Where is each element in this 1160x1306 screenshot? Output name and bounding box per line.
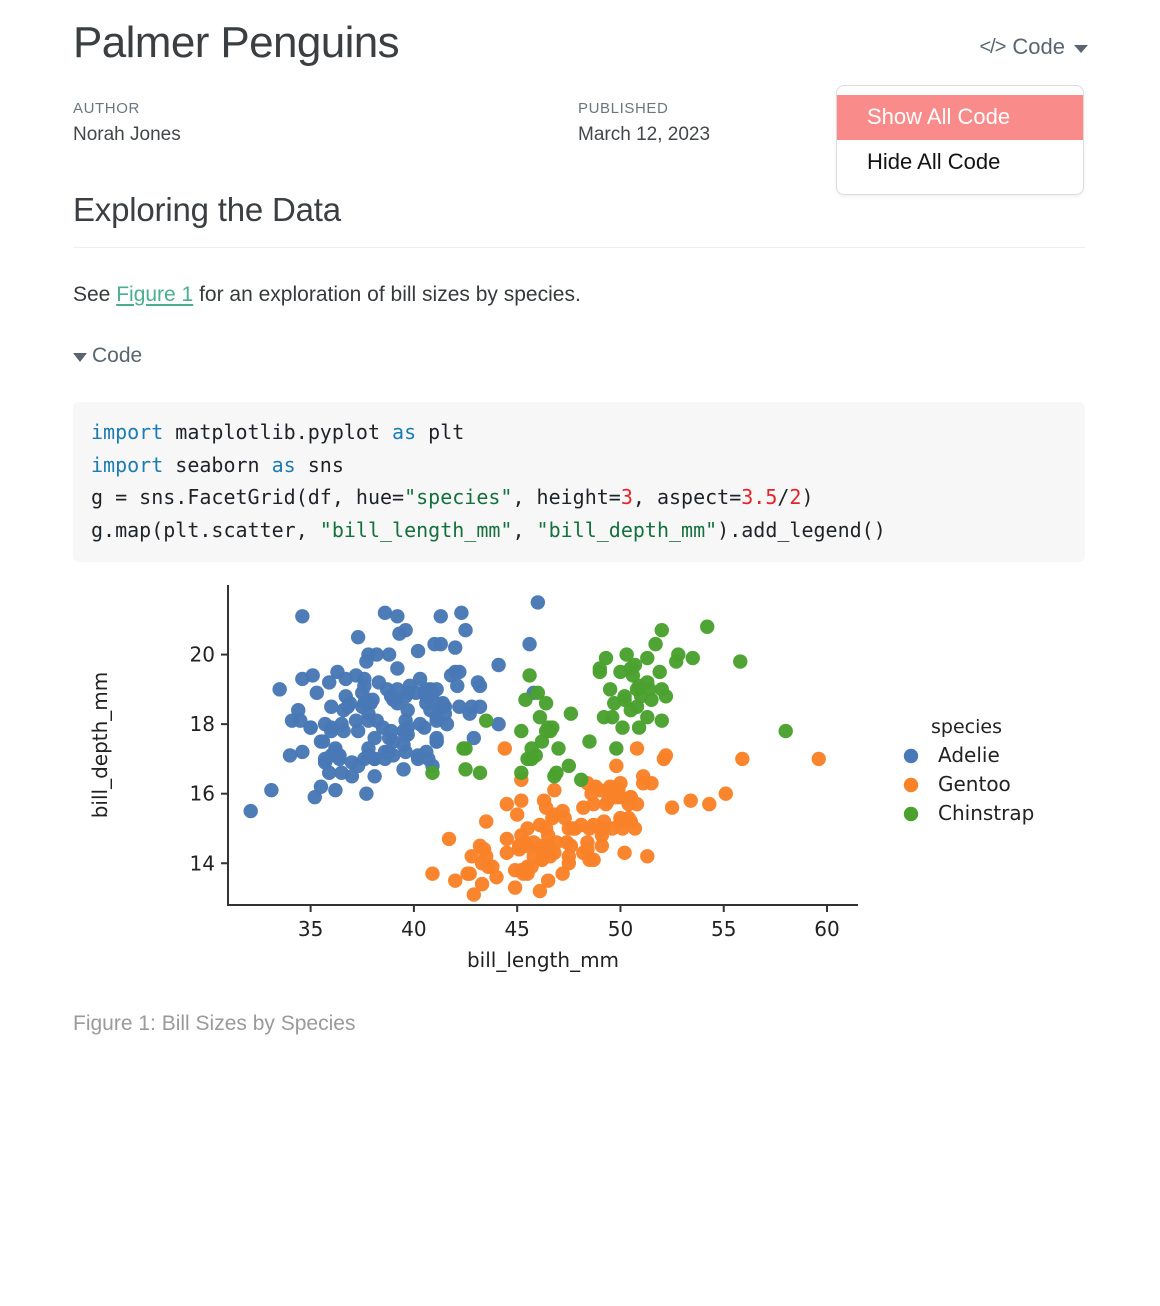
code-token: "species": [404, 485, 512, 509]
data-point: [357, 696, 371, 710]
data-point: [295, 745, 309, 759]
data-point: [551, 741, 565, 755]
data-point: [564, 707, 578, 721]
data-point: [576, 800, 590, 814]
code-token: , aspect=: [633, 485, 741, 509]
section-divider: [73, 247, 1085, 248]
data-point: [330, 665, 344, 679]
code-token: ).add_legend(): [717, 518, 886, 542]
data-point: [417, 720, 431, 734]
code-toggle-button[interactable]: </> Code: [979, 34, 1088, 60]
code-block[interactable]: import matplotlib.pyplot as plt import s…: [73, 402, 1085, 562]
code-token: 2: [789, 485, 801, 509]
data-point: [659, 748, 673, 762]
y-tick-label: 14: [190, 851, 215, 875]
data-point: [539, 821, 553, 835]
data-point: [272, 682, 286, 696]
data-point: [462, 867, 476, 881]
data-point: [733, 654, 747, 668]
data-point: [595, 839, 609, 853]
data-point: [462, 707, 476, 721]
data-point: [622, 797, 636, 811]
figure-container: 14161820354045505560bill_length_mmbill_d…: [73, 573, 1085, 993]
data-point: [328, 783, 342, 797]
data-point: [324, 700, 338, 714]
data-point: [425, 766, 439, 780]
data-point: [630, 700, 644, 714]
x-axis-title: bill_length_mm: [467, 948, 619, 972]
data-point: [539, 696, 553, 710]
data-point: [390, 682, 404, 696]
data-point: [378, 606, 392, 620]
data-point: [491, 717, 505, 731]
series-adelie: [244, 595, 546, 818]
data-point: [396, 762, 410, 776]
data-point: [655, 623, 669, 637]
data-point: [615, 720, 629, 734]
data-point: [640, 651, 654, 665]
y-axis-title: bill_depth_mm: [88, 672, 112, 819]
data-point: [514, 766, 528, 780]
section-heading: Exploring the Data: [73, 191, 341, 229]
data-point: [514, 793, 528, 807]
data-point: [324, 748, 338, 762]
data-point: [531, 595, 545, 609]
data-point: [498, 741, 512, 755]
data-point: [514, 828, 528, 842]
data-point: [539, 800, 553, 814]
y-tick-label: 16: [190, 782, 215, 806]
body-paragraph: See Figure 1 for an exploration of bill …: [73, 279, 581, 311]
data-point: [264, 783, 278, 797]
data-point: [605, 710, 619, 724]
code-content: import matplotlib.pyplot as plt import s…: [91, 420, 886, 542]
data-point: [659, 689, 673, 703]
data-point: [609, 759, 623, 773]
code-token: /: [777, 485, 789, 509]
data-point: [475, 856, 489, 870]
legend-marker: [904, 807, 918, 821]
data-point: [632, 720, 646, 734]
data-point: [479, 814, 493, 828]
code-token: 3.5: [741, 485, 777, 509]
paragraph-text-before: See: [73, 283, 116, 306]
data-point: [562, 759, 576, 773]
page-title: Palmer Penguins: [73, 18, 1085, 69]
data-point: [580, 842, 594, 856]
data-point: [310, 686, 324, 700]
data-point: [322, 766, 336, 780]
data-point: [500, 832, 514, 846]
x-tick-label: 55: [711, 917, 736, 941]
data-point: [630, 741, 644, 755]
data-point: [514, 724, 528, 738]
code-token: "bill_length_mm": [320, 518, 513, 542]
data-point: [295, 672, 309, 686]
data-point: [467, 887, 481, 901]
code-token: sns: [296, 453, 344, 477]
data-point: [582, 734, 596, 748]
author-value: Norah Jones: [73, 124, 578, 146]
legend-label: Gentoo: [938, 772, 1011, 796]
code-token: 3: [621, 485, 633, 509]
data-point: [665, 800, 679, 814]
code-token: matplotlib.pyplot: [163, 420, 392, 444]
code-token: "bill_depth_mm": [537, 518, 718, 542]
x-tick-label: 60: [814, 917, 839, 941]
data-point: [349, 668, 363, 682]
data-point: [653, 665, 667, 679]
data-point: [522, 668, 536, 682]
data-point: [458, 741, 472, 755]
data-point: [588, 780, 602, 794]
code-token: import: [91, 453, 163, 477]
data-point: [555, 867, 569, 881]
data-point: [303, 720, 317, 734]
data-point: [473, 766, 487, 780]
published-value: March 12, 2023: [578, 124, 1083, 146]
data-point: [683, 793, 697, 807]
data-point: [351, 724, 365, 738]
data-point: [640, 849, 654, 863]
data-point: [609, 741, 623, 755]
data-point: [611, 783, 625, 797]
code-token: as: [272, 453, 296, 477]
legend-label: Adelie: [938, 743, 1000, 767]
data-point: [500, 797, 514, 811]
data-point: [510, 807, 524, 821]
data-point: [438, 700, 452, 714]
menu-item-hide-all-code[interactable]: Hide All Code: [837, 140, 1083, 185]
points-layer: [244, 595, 826, 902]
data-point: [295, 609, 309, 623]
code-token: ): [801, 485, 813, 509]
data-point: [491, 658, 505, 672]
data-point: [547, 769, 561, 783]
data-point: [429, 734, 443, 748]
data-point: [401, 720, 415, 734]
data-point: [442, 832, 456, 846]
data-point: [702, 797, 716, 811]
data-point: [630, 682, 644, 696]
data-point: [398, 745, 412, 759]
data-point: [518, 693, 532, 707]
code-fold-label: Code: [92, 344, 142, 368]
data-point: [434, 609, 448, 623]
legend-title: species: [931, 716, 1002, 738]
data-point: [686, 651, 700, 665]
data-point: [390, 609, 404, 623]
data-point: [367, 769, 381, 783]
data-point: [448, 873, 462, 887]
data-point: [522, 637, 536, 651]
data-point: [458, 762, 472, 776]
code-brackets-icon: </>: [979, 36, 1005, 59]
data-point: [479, 713, 493, 727]
data-point: [642, 682, 656, 696]
data-point: [735, 752, 749, 766]
data-point: [382, 647, 396, 661]
data-point: [386, 748, 400, 762]
data-point: [448, 640, 462, 654]
data-point: [574, 773, 588, 787]
published-column: PUBLISHED March 12, 2023: [578, 100, 1083, 146]
title-block: Palmer Penguins: [73, 18, 1085, 69]
caret-down-icon: [73, 353, 87, 362]
y-tick-label: 18: [190, 712, 215, 736]
data-point: [398, 623, 412, 637]
data-point: [359, 654, 373, 668]
data-point: [450, 679, 464, 693]
metadata-row: AUTHOR Norah Jones PUBLISHED March 12, 2…: [73, 100, 1085, 146]
code-fold-summary[interactable]: Code: [73, 344, 142, 368]
data-point: [779, 724, 793, 738]
data-point: [812, 752, 826, 766]
code-toggle-label: Code: [1012, 34, 1065, 60]
data-point: [508, 880, 522, 894]
data-point: [547, 846, 561, 860]
data-point: [617, 846, 631, 860]
data-point: [547, 783, 561, 797]
data-point: [574, 818, 588, 832]
data-point: [533, 710, 547, 724]
figure-cross-reference-link[interactable]: Figure 1: [116, 283, 193, 306]
x-tick-label: 50: [608, 917, 633, 941]
data-point: [458, 623, 472, 637]
published-label: PUBLISHED: [578, 100, 1083, 117]
data-point: [427, 637, 441, 651]
data-point: [555, 804, 569, 818]
y-tick-label: 20: [190, 643, 215, 667]
data-point: [324, 724, 338, 738]
chevron-down-icon: [1074, 45, 1088, 53]
data-point: [719, 787, 733, 801]
figure-caption: Figure 1: Bill Sizes by Species: [73, 1012, 355, 1036]
legend-marker: [904, 749, 918, 763]
data-point: [508, 863, 522, 877]
data-point: [351, 759, 365, 773]
code-token: ,: [512, 518, 536, 542]
legend-label: Chinstrap: [938, 801, 1034, 825]
data-point: [367, 731, 381, 745]
code-token: as: [392, 420, 416, 444]
data-point: [477, 842, 491, 856]
data-point: [500, 846, 514, 860]
data-point: [283, 748, 297, 762]
data-point: [524, 752, 538, 766]
data-point: [617, 693, 631, 707]
data-point: [535, 853, 549, 867]
data-point: [454, 606, 468, 620]
paragraph-text-after: for an exploration of bill sizes by spec…: [193, 283, 581, 306]
x-tick-label: 40: [401, 917, 426, 941]
data-point: [603, 682, 617, 696]
document-page: Palmer Penguins </> Code Show All Code H…: [0, 0, 1160, 1306]
code-token: import: [91, 420, 163, 444]
data-point: [624, 814, 638, 828]
code-token: g.map(plt.scatter,: [91, 518, 320, 542]
data-point: [336, 703, 350, 717]
data-point: [244, 804, 258, 818]
data-point: [411, 644, 425, 658]
data-point: [599, 651, 613, 665]
data-point: [541, 873, 555, 887]
series-gentoo: [425, 741, 826, 901]
legend-marker: [904, 778, 918, 792]
scatter-plot: 14161820354045505560bill_length_mmbill_d…: [73, 573, 1085, 993]
x-tick-label: 35: [298, 917, 323, 941]
data-point: [419, 682, 433, 696]
data-point: [372, 675, 386, 689]
data-point: [452, 665, 466, 679]
author-column: AUTHOR Norah Jones: [73, 100, 578, 146]
code-token: , height=: [512, 485, 620, 509]
data-point: [595, 821, 609, 835]
author-label: AUTHOR: [73, 100, 578, 117]
data-point: [351, 630, 365, 644]
data-point: [655, 713, 669, 727]
data-point: [308, 790, 322, 804]
data-point: [700, 620, 714, 634]
code-token: plt: [416, 420, 464, 444]
data-point: [471, 675, 485, 689]
data-point: [425, 867, 439, 881]
data-point: [421, 752, 435, 766]
code-token: seaborn: [163, 453, 271, 477]
code-token: g = sns.FacetGrid(df, hue=: [91, 485, 404, 509]
data-point: [628, 658, 642, 672]
data-point: [644, 776, 658, 790]
data-point: [648, 637, 662, 651]
data-point: [361, 713, 375, 727]
data-point: [562, 821, 576, 835]
x-tick-label: 45: [504, 917, 529, 941]
data-point: [390, 661, 404, 675]
data-point: [359, 787, 373, 801]
data-point: [671, 647, 685, 661]
